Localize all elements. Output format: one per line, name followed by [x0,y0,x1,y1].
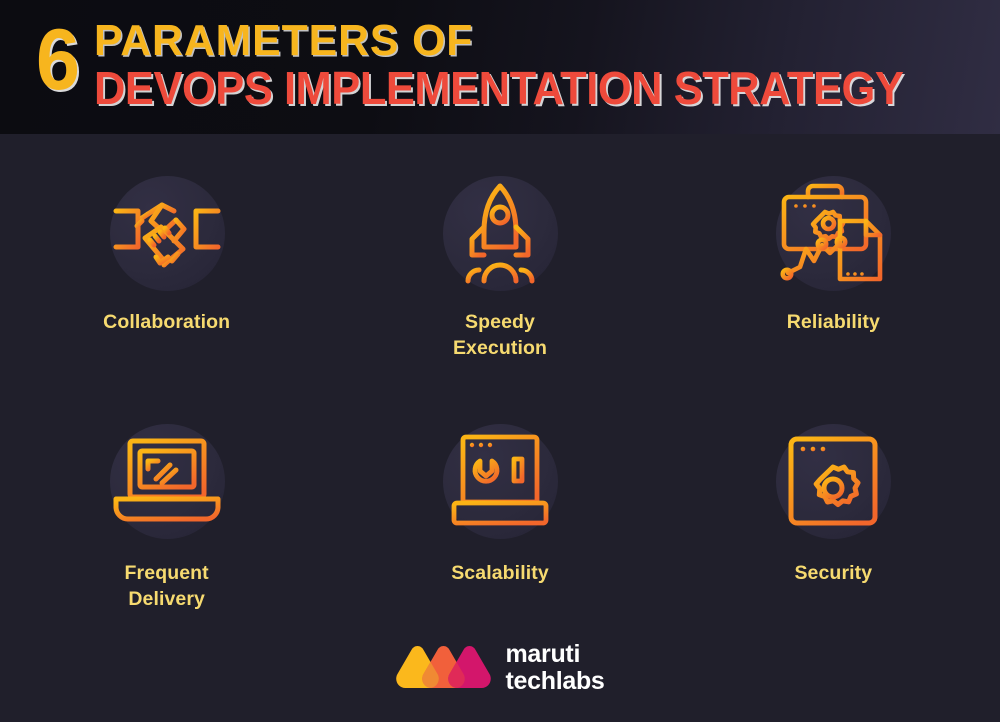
parameter-card-security[interactable]: Security [667,400,1000,640]
tools-ruler-window-icon [448,433,552,529]
parameters-grid: Collaboration [0,160,1000,640]
rocket-icon [452,181,548,285]
maruti-techlabs-logo-mark [395,643,491,693]
parameter-card-collaboration[interactable]: Collaboration [0,160,333,400]
icon-wrapper [87,160,247,305]
logo-word-2: techlabs [505,668,604,695]
icon-wrapper [420,160,580,305]
browser-gear-icon [786,434,880,528]
parameter-card-reliability[interactable]: Reliability [667,160,1000,400]
icon-wrapper [87,408,247,553]
parameter-card-speedy-execution[interactable]: Speedy Execution [333,160,666,400]
parameter-card-scalability[interactable]: Scalability [333,400,666,640]
laptop-icon [112,437,222,525]
parameter-label: Speedy Execution [453,310,547,361]
handshake-icon [112,183,222,283]
logo-wordmark: maruti techlabs [505,641,604,694]
headline-number: 6 [36,21,78,100]
headline-line-1: PARAMETERS OF [94,19,925,63]
parameter-label: Collaboration [103,310,230,336]
headline-line-2: DEVOPS IMPLEMENTATION STRATEGY [94,64,903,112]
parameter-label: Security [794,561,872,587]
infographic-poster: 6 PARAMETERS OF DEVOPS IMPLEMENTATION ST… [0,0,1000,722]
briefcase-report-chart-icon [778,181,888,285]
headline-text-stack: PARAMETERS OF DEVOPS IMPLEMENTATION STRA… [94,17,950,112]
parameter-card-frequent-delivery[interactable]: Frequent Delivery [0,400,333,640]
parameter-label: Reliability [787,310,880,336]
icon-wrapper [753,160,913,305]
header-banner: 6 PARAMETERS OF DEVOPS IMPLEMENTATION ST… [0,0,1000,134]
header-inner: 6 PARAMETERS OF DEVOPS IMPLEMENTATION ST… [36,17,950,112]
icon-wrapper [753,408,913,553]
brand-logo[interactable]: maruti techlabs [395,641,604,694]
parameter-label: Scalability [451,561,549,587]
logo-word-1: maruti [505,640,580,668]
parameter-label: Frequent Delivery [125,561,209,612]
icon-wrapper [420,408,580,553]
